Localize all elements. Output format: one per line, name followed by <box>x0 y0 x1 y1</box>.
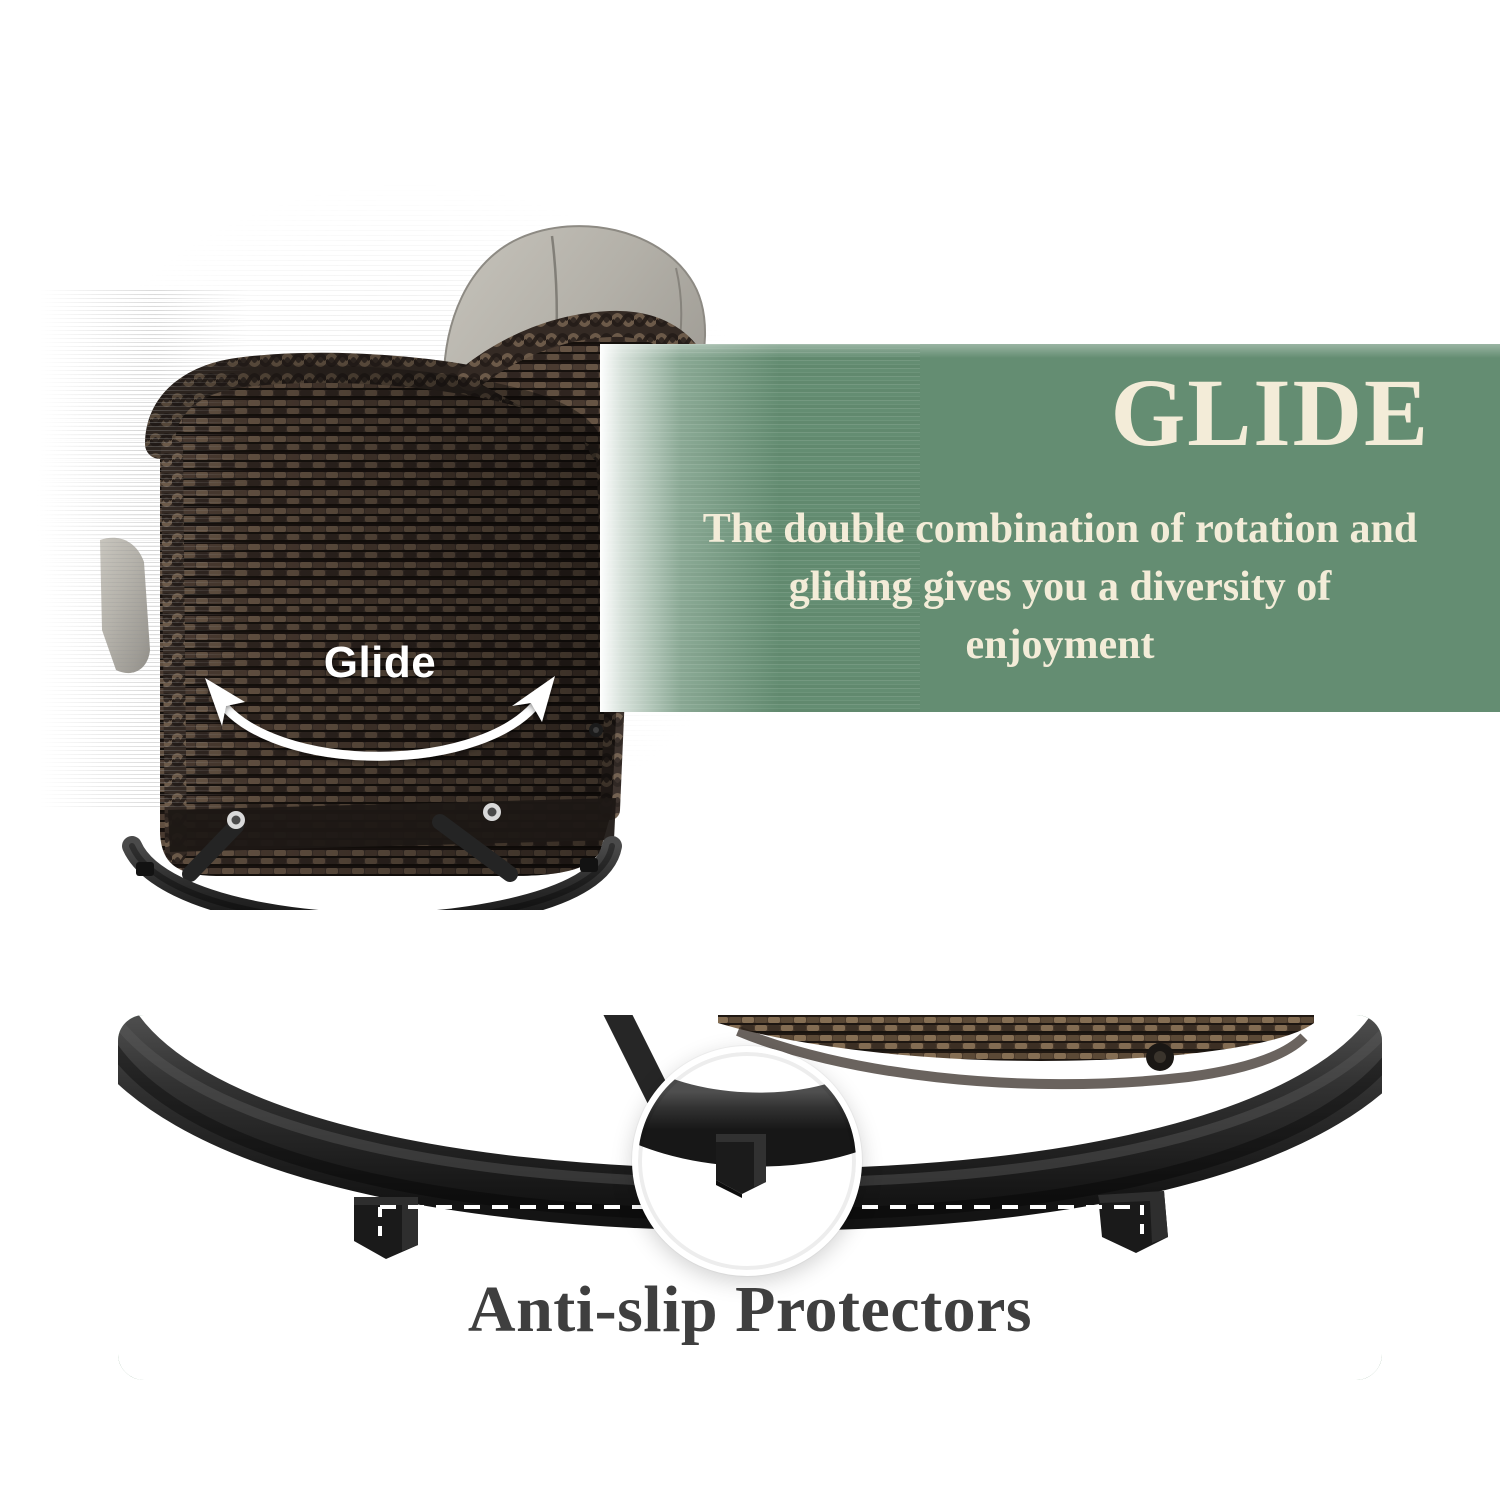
glide-double-arrow-icon <box>150 630 610 810</box>
glide-feature-section: GLIDE The double combination of rotation… <box>0 0 1500 980</box>
glide-description: The double combination of rotation and g… <box>700 500 1420 674</box>
magnifier-callout <box>632 1046 862 1276</box>
glide-annotation: Glide <box>150 630 610 810</box>
glide-title: GLIDE <box>600 365 1430 461</box>
product-infographic: GLIDE The double combination of rotation… <box>0 0 1500 1500</box>
magnifier-contents <box>638 1052 856 1270</box>
banner-top-fade <box>600 344 1500 358</box>
antislip-title: Anti-slip Protectors <box>118 1272 1382 1348</box>
